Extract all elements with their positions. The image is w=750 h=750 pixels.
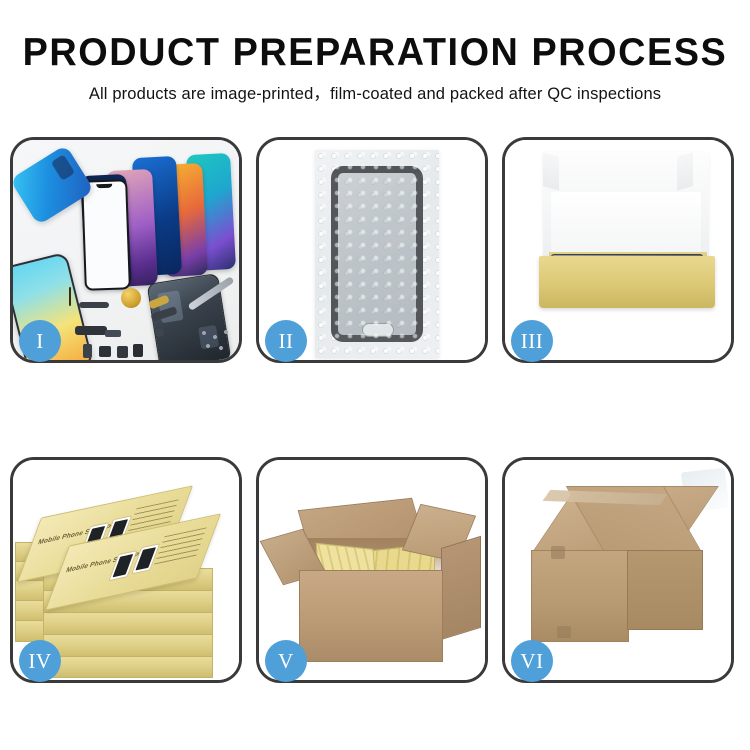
box-lid-flap-left bbox=[543, 152, 559, 191]
page-title: PRODUCT PREPARATION PROCESS bbox=[11, 30, 739, 76]
box-lid-flap-right bbox=[677, 152, 693, 191]
process-step-card-3[interactable]: III bbox=[502, 137, 734, 363]
process-step-card-4[interactable]: Mobile Phone Spare Parts Mobile Phone Sp… bbox=[10, 457, 242, 683]
stacked-box-slab-r5 bbox=[43, 656, 213, 678]
stacked-box-slab-r4 bbox=[43, 634, 213, 658]
small-component-3 bbox=[117, 346, 128, 358]
flex-cable-part-2 bbox=[150, 306, 177, 322]
step-badge-4: IV bbox=[19, 640, 61, 682]
process-step-card-1[interactable]: I bbox=[10, 137, 242, 363]
process-step-card-5[interactable]: V bbox=[256, 457, 488, 683]
process-step-card-6[interactable]: VI bbox=[502, 457, 734, 683]
small-component-5 bbox=[105, 330, 121, 337]
process-step-card-2[interactable]: II bbox=[256, 137, 488, 363]
kraft-box-tray bbox=[539, 256, 715, 308]
small-component-2 bbox=[99, 346, 111, 357]
step-badge-3: III bbox=[511, 320, 553, 362]
connector-grid-part bbox=[69, 287, 71, 306]
carton-handle-notch-bottom bbox=[557, 626, 571, 638]
phone-glass-panel bbox=[81, 179, 131, 291]
step-badge-5: V bbox=[265, 640, 307, 682]
phone-screen-assembly bbox=[331, 166, 423, 342]
page-subtitle: All products are image-printed，film-coat… bbox=[0, 82, 750, 106]
box-spec-lines-front bbox=[153, 527, 206, 566]
carton-handle-notch-top bbox=[551, 546, 565, 559]
step-badge-2: II bbox=[265, 320, 307, 362]
process-steps-grid: I II III bbox=[10, 137, 740, 683]
flex-strip-part bbox=[79, 302, 109, 308]
step-badge-1: I bbox=[19, 320, 61, 362]
flex-cable-part-3 bbox=[148, 295, 170, 310]
gold-disc-part bbox=[121, 288, 141, 308]
small-parts-cluster bbox=[69, 288, 209, 360]
stacked-box-slab-r3 bbox=[43, 612, 213, 636]
small-component-1 bbox=[83, 344, 92, 358]
carton-front-face bbox=[531, 550, 629, 642]
page-header: PRODUCT PREPARATION PROCESS All products… bbox=[0, 0, 750, 106]
small-component-4 bbox=[133, 344, 143, 357]
bubble-wrap-sheet bbox=[315, 150, 439, 358]
step-badge-6: VI bbox=[511, 640, 553, 682]
carton-side-panel bbox=[441, 536, 481, 640]
carton-front-panel bbox=[299, 570, 443, 662]
carton-right-face bbox=[627, 550, 703, 630]
small-component-6 bbox=[155, 328, 164, 337]
flex-cable-part-1 bbox=[75, 326, 107, 335]
